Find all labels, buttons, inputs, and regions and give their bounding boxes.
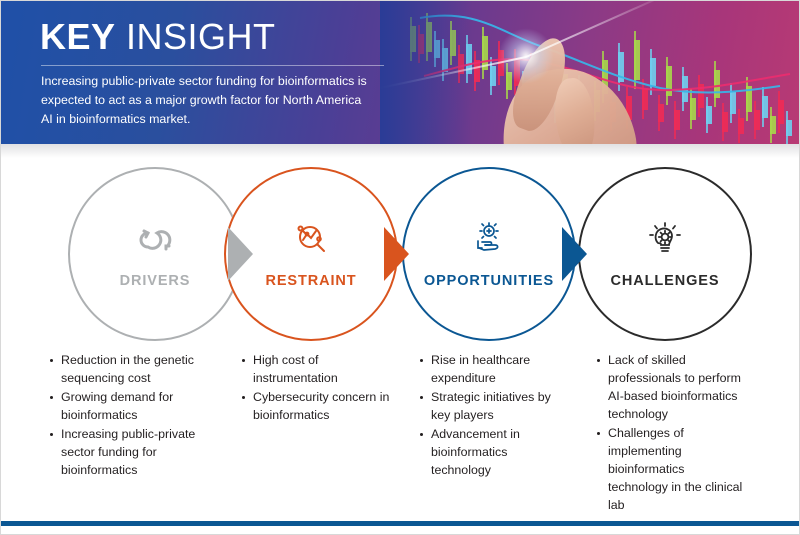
header-subtitle: Increasing public-private sector funding… [41, 72, 371, 130]
bullets-opportunities: Rise in healthcare expenditure Strategic… [418, 352, 568, 481]
page-title: KEY INSIGHT [40, 18, 276, 56]
node-challenges-label: CHALLENGES [611, 273, 720, 289]
lightbulb-gear-icon [642, 219, 688, 261]
arrow-drivers-to-restraint [228, 227, 253, 281]
arrow-opportunities-to-challenges [562, 227, 587, 281]
list-item: Advancement in bioinformatics technology [418, 426, 568, 480]
header-banner: KEY INSIGHT Increasing public-private se… [0, 0, 800, 144]
list-item: Reduction in the genetic sequencing cost [48, 352, 198, 388]
header-stock-chart-image [380, 0, 800, 144]
node-opportunities[interactable]: OPPORTUNITIES [402, 167, 576, 341]
bullet-list-challenges: Lack of skilled professionals to perform… [595, 352, 745, 515]
bullets-challenges: Lack of skilled professionals to perform… [595, 352, 745, 516]
list-item: High cost of instrumentation [240, 352, 395, 388]
footer-bar [0, 521, 800, 526]
list-item: Challenges of implementing bioinformatic… [595, 425, 745, 515]
node-drivers[interactable]: DRIVERS [68, 167, 242, 341]
page-title-bold: KEY [40, 16, 116, 57]
bullet-list-restraint: High cost of instrumentation Cybersecuri… [240, 352, 395, 425]
infographic-page: KEY INSIGHT Increasing public-private se… [0, 0, 800, 535]
node-opportunities-label: OPPORTUNITIES [424, 273, 554, 289]
list-item: Lack of skilled professionals to perform… [595, 352, 745, 424]
bullets-drivers: Reduction in the genetic sequencing cost… [48, 352, 198, 481]
title-divider [41, 65, 384, 66]
header-image-fade [380, 0, 800, 144]
list-item: Increasing public-private sector funding… [48, 426, 198, 480]
list-item: Growing demand for bioinformatics [48, 389, 198, 425]
page-title-light: INSIGHT [116, 16, 276, 57]
hand-medical-cross-icon [466, 219, 512, 261]
magnifier-chart-icon [288, 219, 334, 261]
node-drivers-label: DRIVERS [120, 273, 191, 289]
bullet-list-drivers: Reduction in the genetic sequencing cost… [48, 352, 198, 480]
node-restraint-label: RESTRAINT [265, 273, 356, 289]
bullet-list-opportunities: Rise in healthcare expenditure Strategic… [418, 352, 568, 480]
header-shadow [0, 144, 800, 158]
bullets-restraint: High cost of instrumentation Cybersecuri… [240, 352, 395, 426]
list-item: Cybersecurity concern in bioinformatics [240, 389, 395, 425]
node-challenges[interactable]: CHALLENGES [578, 167, 752, 341]
arrow-restraint-to-opportunities [384, 227, 409, 281]
dna-cycle-icon [132, 219, 178, 261]
list-item: Rise in healthcare expenditure [418, 352, 568, 388]
list-item: Strategic initiatives by key players [418, 389, 568, 425]
